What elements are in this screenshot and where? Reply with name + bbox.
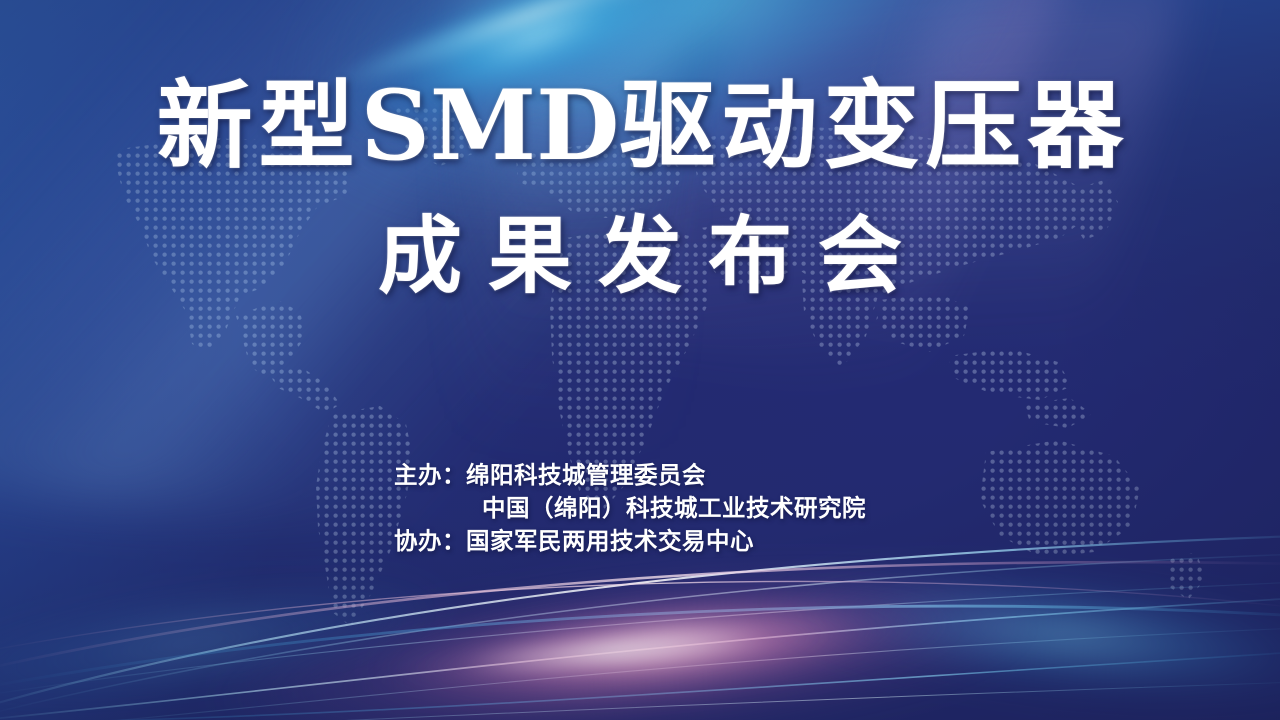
main-title-latin: SMD bbox=[361, 69, 620, 182]
cohost-label: 协办： bbox=[394, 525, 466, 558]
main-title-line-2: 成果发布会 bbox=[26, 214, 1280, 298]
organizer-credits: 主办：绵阳科技城管理委员会 中国（绵阳）科技城工业技术研究院 协办：国家军民两用… bbox=[394, 459, 866, 558]
main-title-prefix: 新型 bbox=[157, 69, 361, 182]
presentation-slide: 新型SMD驱动变压器 成果发布会 主办：绵阳科技城管理委员会 中国（绵阳）科技城… bbox=[0, 0, 1280, 720]
main-title-line-1: 新型SMD驱动变压器 bbox=[6, 78, 1280, 174]
host-organization-primary: 绵阳科技城管理委员会 bbox=[466, 461, 706, 489]
main-title-suffix: 驱动变压器 bbox=[619, 69, 1129, 182]
host-label: 主办： bbox=[394, 459, 466, 492]
slide-content: 新型SMD驱动变压器 成果发布会 主办：绵阳科技城管理委员会 中国（绵阳）科技城… bbox=[0, 0, 1280, 720]
host-organization-secondary: 中国（绵阳）科技城工业技术研究院 bbox=[482, 494, 866, 522]
credit-row-cohost: 协办：国家军民两用技术交易中心 bbox=[394, 525, 866, 558]
title-block: 新型SMD驱动变压器 成果发布会 bbox=[0, 78, 1280, 298]
credit-row-host-secondary: 中国（绵阳）科技城工业技术研究院 bbox=[394, 492, 866, 525]
cohost-organization: 国家军民两用技术交易中心 bbox=[466, 527, 754, 555]
credit-row-host: 主办：绵阳科技城管理委员会 bbox=[394, 459, 866, 492]
